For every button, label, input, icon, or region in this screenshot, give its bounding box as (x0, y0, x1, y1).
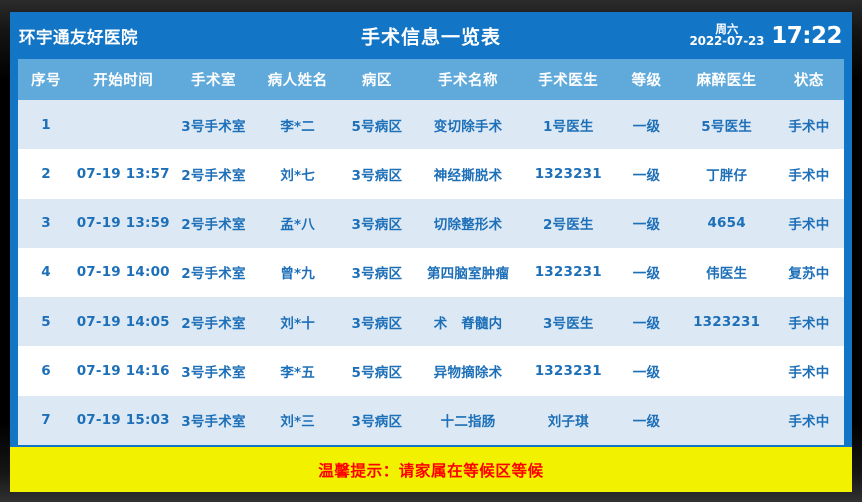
table-body: 13号手术室李*二5号病区变切除手术1号医生一级5号医生手术中207-19 13… (18, 100, 844, 445)
table-row[interactable]: 507-19 14:052号手术室刘*十3号病区术 脊髓内3号医生一级13232… (18, 297, 844, 346)
status-badge: 手术中 (774, 346, 844, 395)
cell-patient: 李*二 (255, 100, 341, 149)
cell-ward: 3号病区 (341, 396, 413, 445)
cell-surgery: 十二指肠 (413, 396, 523, 445)
status-badge: 手术中 (774, 100, 844, 149)
cell-idx: 3 (18, 199, 74, 248)
cell-doctor: 2号医生 (523, 199, 613, 248)
cell-patient: 刘*七 (255, 149, 341, 198)
cell-doctor: 1号医生 (523, 100, 613, 149)
cell-room: 3号手术室 (172, 396, 254, 445)
cell-time: 07-19 15:03 (74, 396, 172, 445)
cell-doctor: 1323231 (523, 346, 613, 395)
cell-room: 3号手术室 (172, 346, 254, 395)
cell-anes: 1323231 (680, 297, 774, 346)
cell-doctor: 1323231 (523, 149, 613, 198)
cell-time: 07-19 13:59 (74, 199, 172, 248)
status-badge: 手术中 (774, 149, 844, 198)
cell-patient: 刘*三 (255, 396, 341, 445)
weekday-label: 周六 (715, 23, 738, 35)
cell-level: 一级 (613, 346, 679, 395)
table-header: 序号 开始时间 手术室 病人姓名 病区 手术名称 手术医生 等级 麻醉医生 状态 (18, 59, 844, 100)
cell-level: 一级 (613, 199, 679, 248)
table-row[interactable]: 307-19 13:592号手术室孟*八3号病区切除整形术2号医生一级4654手… (18, 199, 844, 248)
cell-level: 一级 (613, 297, 679, 346)
column-header-status: 状态 (774, 59, 844, 100)
column-header-room: 手术室 (172, 59, 254, 100)
cell-idx: 4 (18, 248, 74, 297)
cell-patient: 刘*十 (255, 297, 341, 346)
cell-surgery: 神经撕脱术 (413, 149, 523, 198)
cell-level: 一级 (613, 149, 679, 198)
table-row[interactable]: 13号手术室李*二5号病区变切除手术1号医生一级5号医生手术中 (18, 100, 844, 149)
column-header-index: 序号 (18, 59, 74, 100)
table-row[interactable]: 707-19 15:033号手术室刘*三3号病区十二指肠刘子琪一级手术中 (18, 396, 844, 445)
column-header-level: 等级 (613, 59, 679, 100)
column-header-ward: 病区 (341, 59, 413, 100)
cell-ward: 3号病区 (341, 149, 413, 198)
notice-text: 温馨提示：请家属在等候区等候 (318, 459, 543, 481)
cell-time: 07-19 14:00 (74, 248, 172, 297)
cell-room: 2号手术室 (172, 297, 254, 346)
column-header-surgery: 手术名称 (413, 59, 523, 100)
cell-doctor: 1323231 (523, 248, 613, 297)
cell-surgery: 术 脊髓内 (413, 297, 523, 346)
cell-doctor: 3号医生 (523, 297, 613, 346)
cell-idx: 1 (18, 100, 74, 149)
cell-idx: 2 (18, 149, 74, 198)
cell-room: 2号手术室 (172, 199, 254, 248)
cell-anes (680, 346, 774, 395)
cell-level: 一级 (613, 396, 679, 445)
clock-time: 17:22 (771, 23, 842, 49)
cell-level: 一级 (613, 100, 679, 149)
cell-level: 一级 (613, 248, 679, 297)
notice-bar: 温馨提示：请家属在等候区等候 (10, 445, 852, 492)
column-header-anesthetist: 麻醉医生 (680, 59, 774, 100)
datetime-block: 周六 2022-07-23 17:22 (690, 23, 842, 49)
table-row[interactable]: 607-19 14:163号手术室李*五5号病区异物摘除术1323231一级手术… (18, 346, 844, 395)
status-badge: 手术中 (774, 297, 844, 346)
status-badge: 手术中 (774, 199, 844, 248)
cell-patient: 孟*八 (255, 199, 341, 248)
cell-room: 3号手术室 (172, 100, 254, 149)
table-row[interactable]: 407-19 14:002号手术室曾*九3号病区第四脑室肿瘤1323231一级伟… (18, 248, 844, 297)
cell-ward: 3号病区 (341, 248, 413, 297)
cell-room: 2号手术室 (172, 248, 254, 297)
surgery-table-container: 序号 开始时间 手术室 病人姓名 病区 手术名称 手术医生 等级 麻醉医生 状态… (10, 59, 852, 445)
cell-idx: 6 (18, 346, 74, 395)
cell-anes: 5号医生 (680, 100, 774, 149)
column-header-patient: 病人姓名 (255, 59, 341, 100)
date-label: 2022-07-23 (690, 35, 765, 48)
cell-surgery: 切除整形术 (413, 199, 523, 248)
cell-ward: 5号病区 (341, 346, 413, 395)
display-screen: 环宇通友好医院 手术信息一览表 周六 2022-07-23 17:22 序号 开… (10, 12, 852, 492)
status-badge: 复苏中 (774, 248, 844, 297)
cell-surgery: 变切除手术 (413, 100, 523, 149)
cell-ward: 3号病区 (341, 297, 413, 346)
cell-idx: 5 (18, 297, 74, 346)
cell-surgery: 异物摘除术 (413, 346, 523, 395)
cell-time (74, 100, 172, 149)
surgery-table: 序号 开始时间 手术室 病人姓名 病区 手术名称 手术医生 等级 麻醉医生 状态… (18, 59, 844, 445)
cell-time: 07-19 14:16 (74, 346, 172, 395)
cell-anes: 4654 (680, 199, 774, 248)
column-header-starttime: 开始时间 (74, 59, 172, 100)
cell-time: 07-19 13:57 (74, 149, 172, 198)
date-block: 周六 2022-07-23 (690, 23, 765, 48)
column-header-surgeon: 手术医生 (523, 59, 613, 100)
cell-anes: 丁胖仔 (680, 149, 774, 198)
top-header-bar: 环宇通友好医院 手术信息一览表 周六 2022-07-23 17:22 (10, 12, 852, 59)
cell-patient: 曾*九 (255, 248, 341, 297)
cell-anes: 伟医生 (680, 248, 774, 297)
cell-patient: 李*五 (255, 346, 341, 395)
cell-doctor: 刘子琪 (523, 396, 613, 445)
cell-anes (680, 396, 774, 445)
monitor-bezel: 环宇通友好医院 手术信息一览表 周六 2022-07-23 17:22 序号 开… (0, 0, 862, 502)
cell-surgery: 第四脑室肿瘤 (413, 248, 523, 297)
table-header-row: 序号 开始时间 手术室 病人姓名 病区 手术名称 手术医生 等级 麻醉医生 状态 (18, 59, 844, 100)
cell-room: 2号手术室 (172, 149, 254, 198)
table-row[interactable]: 207-19 13:572号手术室刘*七3号病区神经撕脱术1323231一级丁胖… (18, 149, 844, 198)
cell-time: 07-19 14:05 (74, 297, 172, 346)
status-badge: 手术中 (774, 396, 844, 445)
cell-ward: 3号病区 (341, 199, 413, 248)
cell-idx: 7 (18, 396, 74, 445)
cell-ward: 5号病区 (341, 100, 413, 149)
